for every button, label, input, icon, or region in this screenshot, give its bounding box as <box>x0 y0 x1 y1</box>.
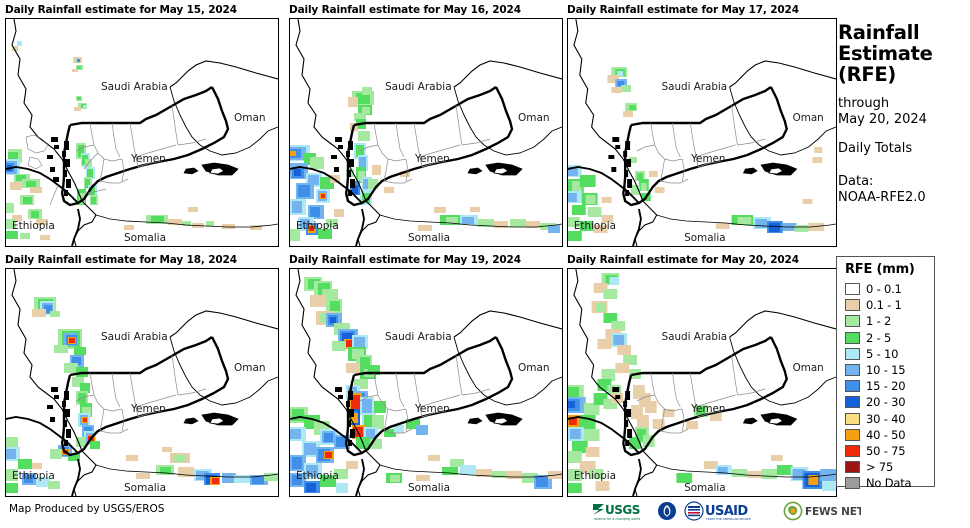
label-ethiopia: Ethiopia <box>296 470 339 482</box>
partner-logos: USGS science for a changing world USAID … <box>592 499 861 523</box>
map-svg: Saudi Arabia Oman Yemen Ethiopia Somalia <box>568 19 836 246</box>
label-ethiopia: Ethiopia <box>12 220 55 232</box>
label-yemen: Yemen <box>130 403 166 415</box>
legend-swatch <box>845 429 860 441</box>
label-ethiopia: Ethiopia <box>12 470 55 482</box>
map-image-may-19[interactable]: Saudi Arabia Oman Yemen Ethiopia Somalia <box>289 268 563 497</box>
rainfall-raster <box>290 277 562 493</box>
totals-label: Daily Totals <box>838 141 970 157</box>
through-label: through <box>838 96 970 112</box>
legend-item: 5 - 10 <box>845 346 934 362</box>
legend-item: 0 - 0.1 <box>845 281 934 297</box>
panel-title: Daily Rainfall estimate for May 15, 2024 <box>5 4 237 16</box>
svg-text:science for a changing world: science for a changing world <box>594 517 640 521</box>
label-saudi-arabia: Saudi Arabia <box>662 81 728 93</box>
coastlines <box>12 19 278 246</box>
label-oman: Oman <box>234 112 266 124</box>
map-credit: Map Produced by USGS/EROS <box>9 503 164 515</box>
map-svg: Saudi Arabia Oman Yemen Ethiopia Somalia <box>6 269 278 496</box>
usaid-logo[interactable]: USAID FROM THE AMERICAN PEOPLE <box>684 500 776 522</box>
panel-may-20[interactable]: Daily Rainfall estimate for May 20, 2024 <box>567 254 799 266</box>
legend-item: No Data <box>845 475 934 491</box>
legend-item: 0.1 - 1 <box>845 297 934 313</box>
map-image-may-17[interactable]: Saudi Arabia Oman Yemen Ethiopia Somalia <box>567 18 837 247</box>
usgs-logo[interactable]: USGS science for a changing world <box>592 500 650 522</box>
legend-swatch <box>845 396 860 408</box>
panel-title: Daily Rainfall estimate for May 18, 2024 <box>5 254 237 266</box>
legend-item: 10 - 15 <box>845 362 934 378</box>
map-image-may-16[interactable]: Saudi Arabia Oman Yemen Ethiopia Somalia <box>289 18 563 247</box>
terrain-texture <box>26 135 48 169</box>
legend-label: 50 - 75 <box>866 444 905 458</box>
legend-swatch <box>845 461 860 473</box>
label-oman: Oman <box>793 362 824 374</box>
legend-rows: 0 - 0.10.1 - 11 - 22 - 55 - 1010 - 1515 … <box>845 281 934 491</box>
rfe-legend: RFE (mm) 0 - 0.10.1 - 11 - 22 - 55 - 101… <box>836 256 935 487</box>
fewsnet-logo-mark: FEWS NET <box>783 501 861 521</box>
svg-text:USGS: USGS <box>605 503 640 517</box>
panel-may-17[interactable]: Daily Rainfall estimate for May 17, 2024 <box>567 4 799 16</box>
usgs-logo-mark: USGS science for a changing world <box>592 501 650 521</box>
panel-may-16[interactable]: Daily Rainfall estimate for May 16, 2024 <box>289 4 521 16</box>
panel-may-19[interactable]: Daily Rainfall estimate for May 19, 2024 <box>289 254 521 266</box>
rainfall-raster <box>568 273 836 493</box>
map-image-may-18[interactable]: Saudi Arabia Oman Yemen Ethiopia Somalia <box>5 268 279 497</box>
map-image-may-15[interactable]: Saudi Arabia Oman Yemen Ethiopia Somalia <box>5 18 279 247</box>
legend-item: 40 - 50 <box>845 427 934 443</box>
legend-label: > 75 <box>866 460 893 474</box>
label-somalia: Somalia <box>684 482 725 494</box>
panel-title: Daily Rainfall estimate for May 16, 2024 <box>289 4 521 16</box>
legend-item: 2 - 5 <box>845 330 934 346</box>
label-ethiopia: Ethiopia <box>296 220 339 232</box>
legend-label: 20 - 30 <box>866 395 905 409</box>
noaa-logo-mark <box>657 501 677 521</box>
label-yemen: Yemen <box>130 153 166 165</box>
legend-swatch <box>845 413 860 425</box>
legend-label: 2 - 5 <box>866 331 891 345</box>
svg-text:FROM THE AMERICAN PEOPLE: FROM THE AMERICAN PEOPLE <box>706 517 751 521</box>
legend-item: 30 - 40 <box>845 411 934 427</box>
panel-may-18[interactable]: Daily Rainfall estimate for May 18, 2024 <box>5 254 237 266</box>
svg-text:FEWS NET: FEWS NET <box>805 506 861 518</box>
data-source-block: Data: NOAA-RFE2.0 <box>838 174 970 206</box>
label-yemen: Yemen <box>690 153 725 165</box>
through-block: through May 20, 2024 <box>838 96 970 128</box>
label-oman: Oman <box>234 362 266 374</box>
label-oman: Oman <box>518 362 550 374</box>
map-svg: Saudi Arabia Oman Yemen Ethiopia Somalia <box>290 269 562 496</box>
legend-swatch <box>845 380 860 392</box>
rainfall-raster <box>6 297 278 493</box>
legend-label: 5 - 10 <box>866 347 898 361</box>
legend-item: 15 - 20 <box>845 378 934 394</box>
fewsnet-logo[interactable]: FEWS NET <box>783 500 861 522</box>
legend-label: No Data <box>866 476 911 490</box>
main-heading: Rainfall Estimate (RFE) <box>838 22 970 85</box>
label-saudi-arabia: Saudi Arabia <box>101 81 168 93</box>
legend-swatch <box>845 299 860 311</box>
legend-swatch <box>845 283 860 295</box>
heading-line-1: Rainfall <box>838 22 970 43</box>
usaid-logo-mark: USAID FROM THE AMERICAN PEOPLE <box>684 501 776 521</box>
legend-item: 20 - 30 <box>845 394 934 410</box>
rainfall-raster <box>6 41 262 240</box>
legend-label: 15 - 20 <box>866 379 905 393</box>
map-svg: Saudi Arabia Oman Yemen Ethiopia Somalia <box>568 269 836 496</box>
label-somalia: Somalia <box>684 232 725 244</box>
heading-line-3: (RFE) <box>838 64 970 85</box>
legend-label: 30 - 40 <box>866 412 905 426</box>
legend-swatch <box>845 348 860 360</box>
legend-title: RFE (mm) <box>845 262 934 277</box>
label-somalia: Somalia <box>408 482 450 494</box>
legend-label: 1 - 2 <box>866 314 891 328</box>
legend-label: 40 - 50 <box>866 428 905 442</box>
label-yemen: Yemen <box>414 153 450 165</box>
legend-label: 0.1 - 1 <box>866 298 902 312</box>
title-block: Rainfall Estimate (RFE) through May 20, … <box>838 22 970 206</box>
label-saudi-arabia: Saudi Arabia <box>385 331 452 343</box>
through-date: May 20, 2024 <box>838 112 970 128</box>
heading-line-2: Estimate <box>838 43 970 64</box>
legend-swatch <box>845 364 860 376</box>
panel-title: Daily Rainfall estimate for May 17, 2024 <box>567 4 799 16</box>
label-saudi-arabia: Saudi Arabia <box>101 331 168 343</box>
label-ethiopia: Ethiopia <box>574 220 616 232</box>
legend-label: 0 - 0.1 <box>866 282 902 296</box>
label-oman: Oman <box>518 112 550 124</box>
label-somalia: Somalia <box>124 232 166 244</box>
data-source: NOAA-RFE2.0 <box>838 190 970 206</box>
map-image-may-20[interactable]: Saudi Arabia Oman Yemen Ethiopia Somalia <box>567 268 837 497</box>
label-yemen: Yemen <box>414 403 450 415</box>
label-ethiopia: Ethiopia <box>574 470 616 482</box>
noaa-logo[interactable] <box>657 500 677 522</box>
legend-swatch <box>845 477 860 489</box>
legend-swatch <box>845 445 860 457</box>
legend-swatch <box>845 332 860 344</box>
panel-title: Daily Rainfall estimate for May 20, 2024 <box>567 254 799 266</box>
legend-item: 1 - 2 <box>845 313 934 329</box>
data-label: Data: <box>838 174 970 190</box>
label-oman: Oman <box>793 112 824 124</box>
panel-may-15[interactable]: Daily Rainfall estimate for May 15, 2024 <box>5 4 237 16</box>
map-svg: Saudi Arabia Oman Yemen Ethiopia Somalia <box>6 19 278 246</box>
label-saudi-arabia: Saudi Arabia <box>385 81 452 93</box>
label-saudi-arabia: Saudi Arabia <box>662 331 728 343</box>
legend-item: 50 - 75 <box>845 443 934 459</box>
legend-item: > 75 <box>845 459 934 475</box>
label-yemen: Yemen <box>690 403 725 415</box>
panel-title: Daily Rainfall estimate for May 19, 2024 <box>289 254 521 266</box>
map-svg: Saudi Arabia Oman Yemen Ethiopia Somalia <box>290 19 562 246</box>
legend-label: 10 - 15 <box>866 363 905 377</box>
coastlines <box>574 19 836 246</box>
label-somalia: Somalia <box>124 482 166 494</box>
legend-swatch <box>845 315 860 327</box>
label-somalia: Somalia <box>408 232 450 244</box>
